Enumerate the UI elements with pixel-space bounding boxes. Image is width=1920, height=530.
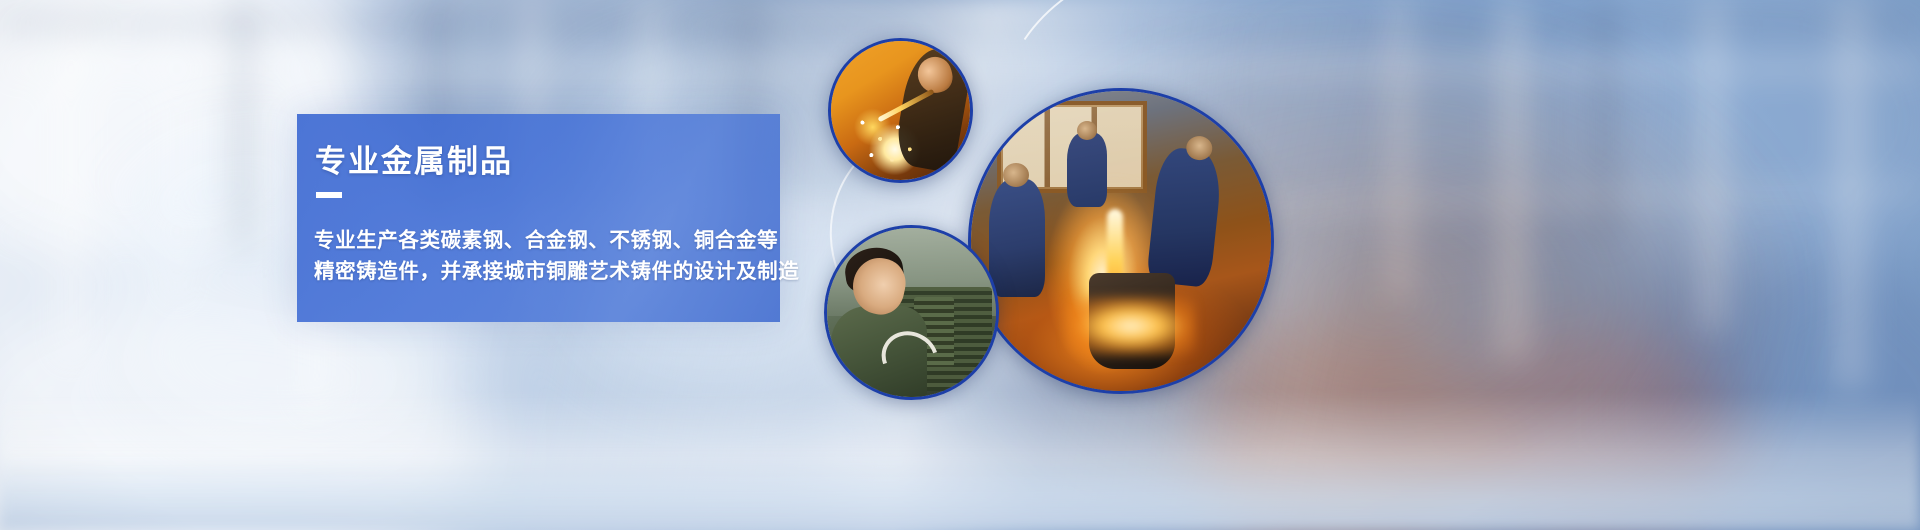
hero-description-line-2: 精密铸造件，并承接城市铜雕艺术铸件的设计及制造 xyxy=(314,256,784,287)
hero-description-line-1: 专业生产各类碳素钢、合金钢、不锈钢、铜合金等 xyxy=(314,225,784,256)
title-divider xyxy=(316,192,342,198)
foundry-pour-photo xyxy=(968,88,1274,394)
welding-sparks-photo xyxy=(828,38,973,183)
workbench-worker-photo xyxy=(824,225,999,400)
page-title: 专业金属制品 xyxy=(315,136,513,181)
hero-text-panel: 专业金属制品 专业生产各类碳素钢、合金钢、不锈钢、铜合金等 精密铸造件，并承接城… xyxy=(297,114,780,322)
hero-banner: 专业金属制品 专业生产各类碳素钢、合金钢、不锈钢、铜合金等 精密铸造件，并承接城… xyxy=(0,0,1920,530)
hero-description: 专业生产各类碳素钢、合金钢、不锈钢、铜合金等 精密铸造件，并承接城市铜雕艺术铸件… xyxy=(314,225,784,287)
